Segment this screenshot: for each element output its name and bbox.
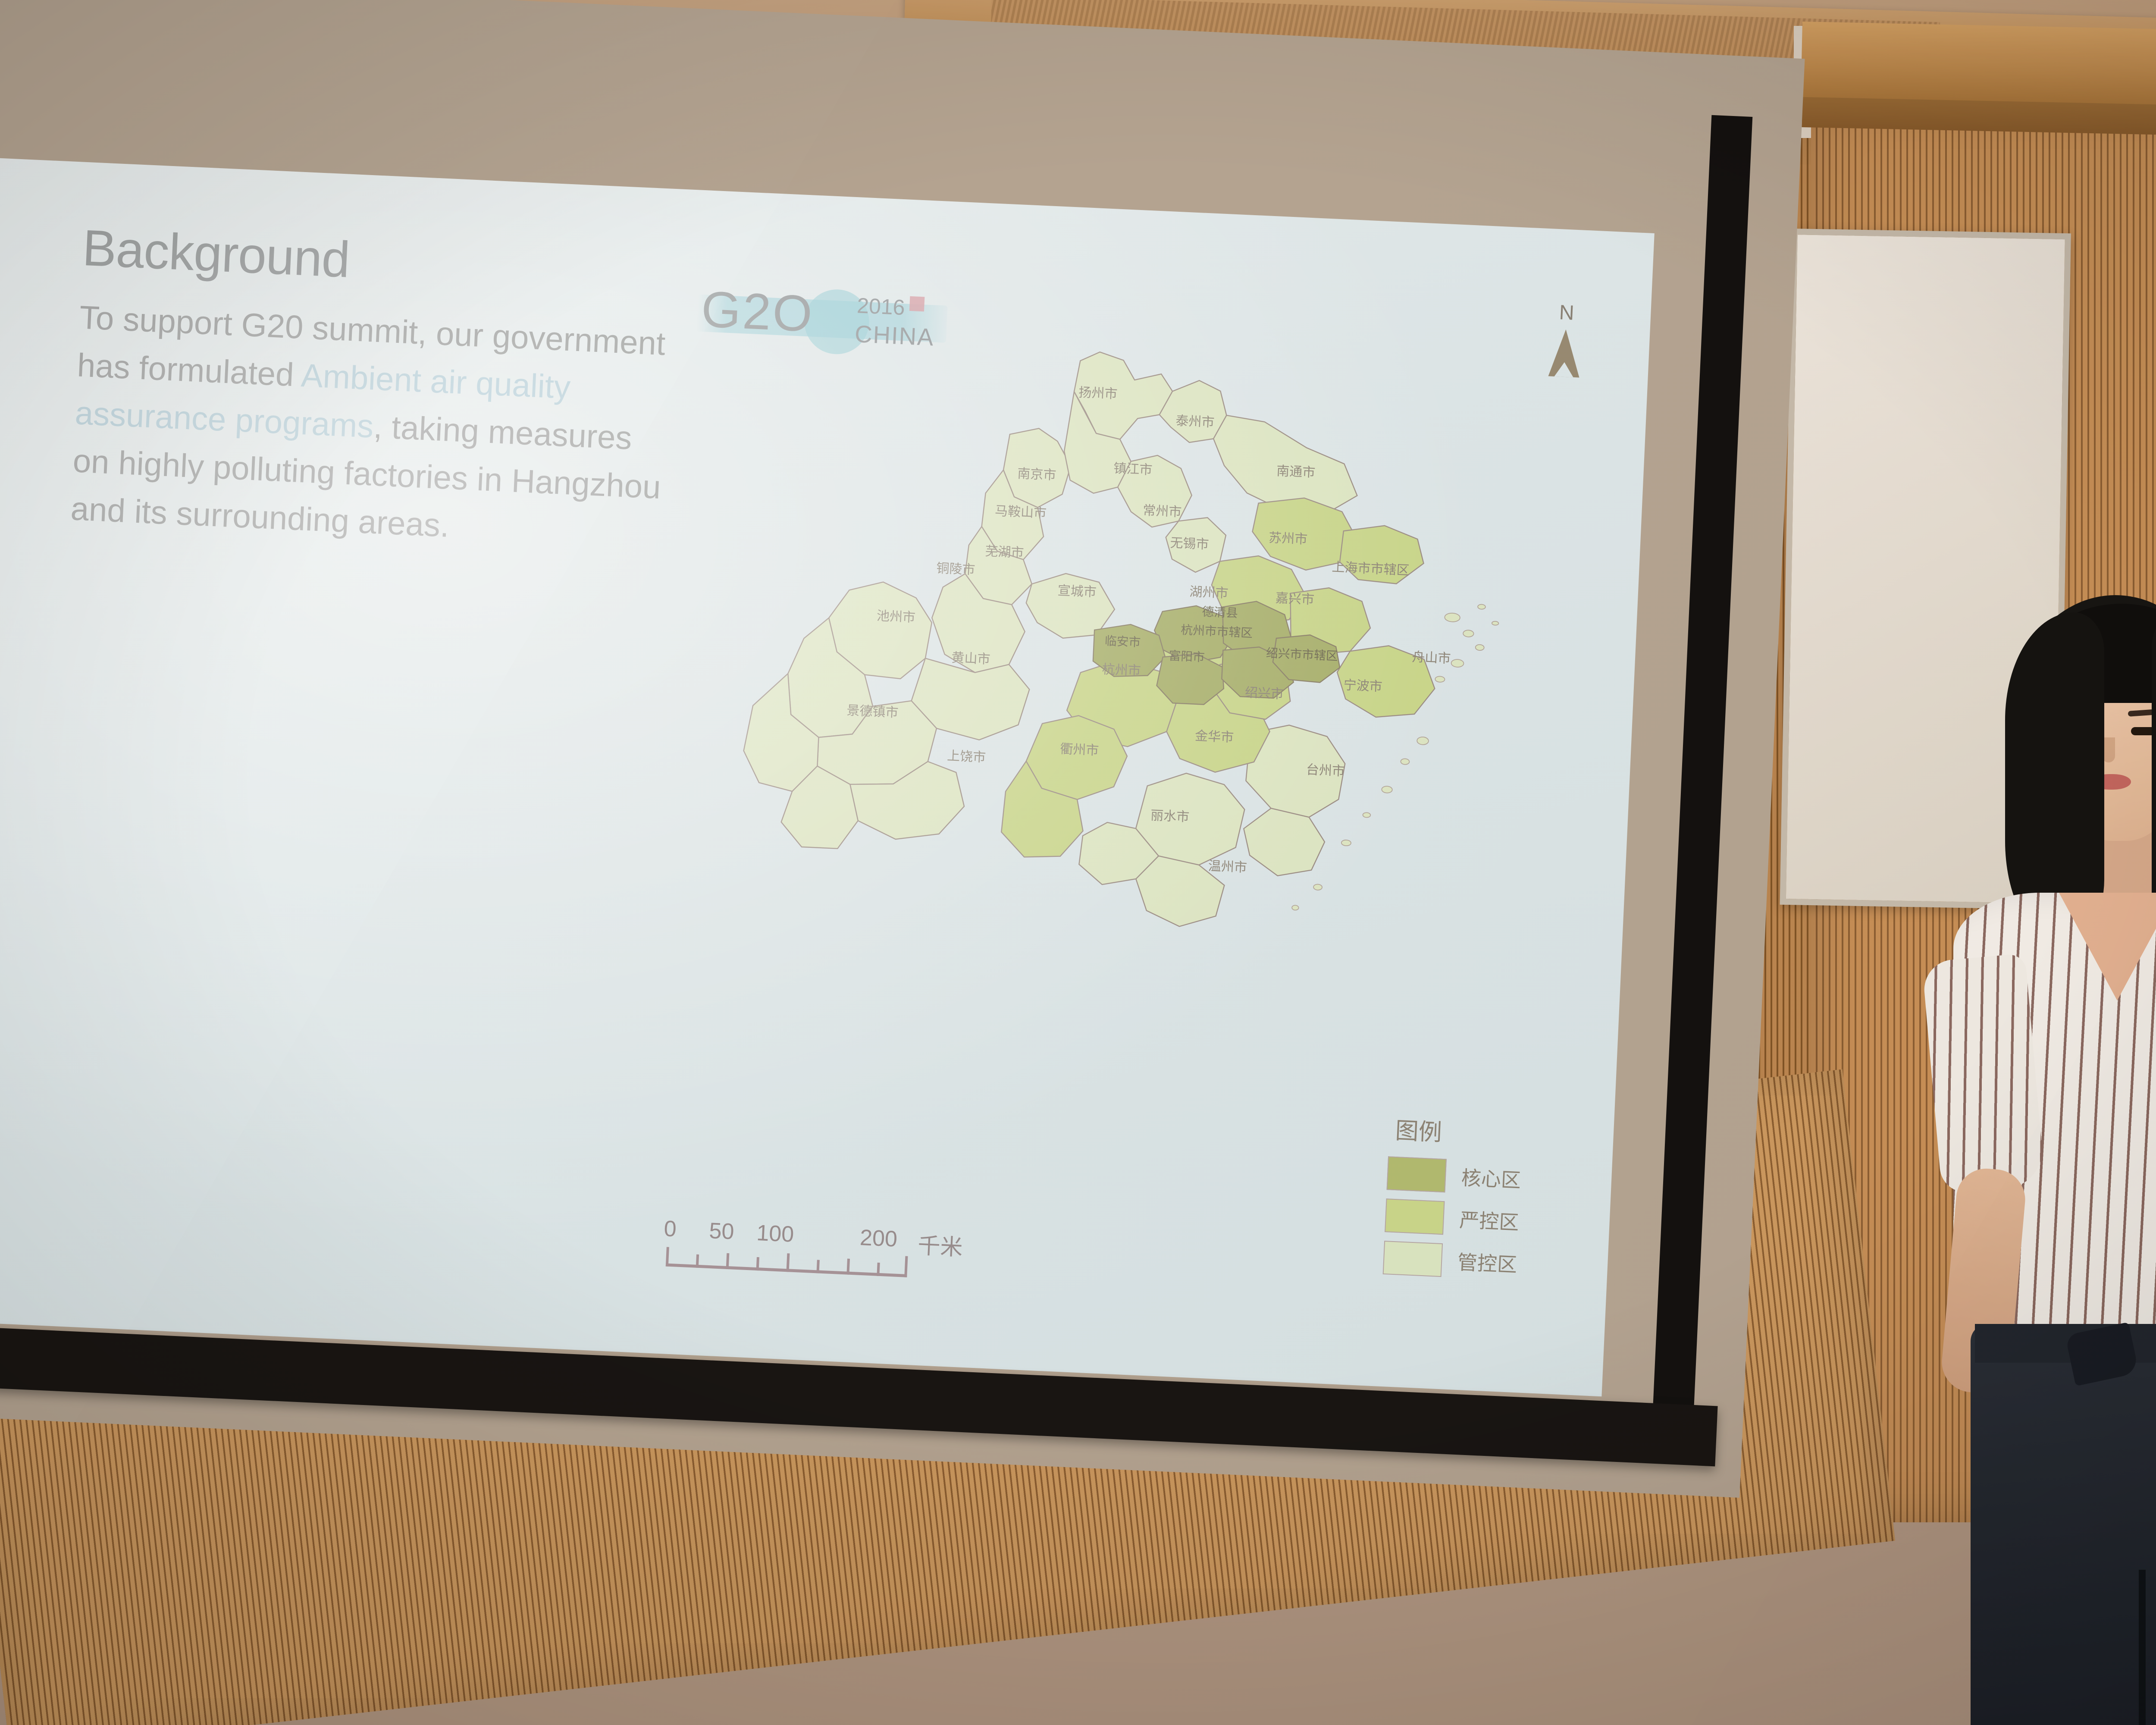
north-arrow-label: N: [1542, 302, 1591, 325]
slide-text-column: Background To support G20 summit, our go…: [70, 223, 678, 560]
map-city-label: 南通市: [1276, 464, 1316, 480]
map-city-label: 富阳市: [1169, 649, 1205, 665]
scalebar-numbers: 0 50 100 200 千米: [663, 1216, 975, 1261]
map-city-label: 马鞍山市: [994, 504, 1047, 521]
north-arrow-icon: N: [1539, 302, 1591, 390]
map-city-label: 上饶市: [946, 748, 986, 765]
map-city-label: 铜陵市: [936, 561, 975, 577]
map-legend: 图例 核心区 严控区 管控区: [1382, 1111, 1580, 1292]
map-city-label: 宁波市: [1343, 677, 1382, 694]
map-city-label: 扬州市: [1078, 385, 1118, 402]
map-city-label: 无锡市: [1170, 536, 1209, 552]
map-city-label: 苏州市: [1268, 530, 1307, 547]
map-city-label: 常州市: [1143, 503, 1182, 520]
map-scalebar: 0 50 100 200 千米: [661, 1216, 975, 1311]
map-city-label: 舟山市: [1412, 649, 1451, 666]
map-city-label: 泰州市: [1175, 414, 1215, 430]
scalebar-tick-50: 50: [708, 1218, 735, 1245]
map-city-label: 景德镇市: [846, 703, 899, 720]
slide-body-text: To support G20 summit, our government ha…: [70, 294, 675, 560]
presenter-v-neck-collar: [2059, 893, 2156, 1000]
map-city-label: 临安市: [1104, 634, 1141, 649]
map-city-label: 黄山市: [951, 650, 990, 667]
projection-screen: Background To support G20 summit, our go…: [0, 0, 1805, 1498]
map-city-label: 台州市: [1306, 762, 1345, 779]
map-city-label: 丽水市: [1150, 808, 1189, 825]
legend-swatch-core: [1387, 1156, 1447, 1192]
scalebar-tick-0: 0: [663, 1216, 677, 1242]
presenter-hair-left: [2005, 612, 2104, 940]
legend-label-core: 核心区: [1461, 1162, 1522, 1193]
scalebar-unit: 千米: [917, 1227, 963, 1262]
presenter-person: [1906, 595, 2156, 1725]
map-canvas: .zc{fill:#dfe9c6;stroke:#9d8f86;stroke-w…: [642, 276, 1543, 1176]
presenter-shorts: [1971, 1324, 2156, 1725]
conference-room-photo: Background To support G20 summit, our go…: [0, 0, 2156, 1725]
map-city-label: 德清县: [1202, 605, 1238, 621]
map-city-label: 宣城市: [1057, 583, 1097, 600]
legend-label-control: 管控区: [1457, 1247, 1518, 1278]
map-city-label: 湖州市: [1189, 584, 1228, 601]
scalebar-tick-200: 200: [859, 1225, 898, 1252]
presentation-slide: Background To support G20 summit, our go…: [0, 157, 1655, 1396]
map-city-label: 金华市: [1194, 728, 1234, 745]
map-city-label: 杭州市: [1102, 662, 1141, 679]
map-city-label: 绍兴市: [1244, 685, 1284, 702]
presenter-shorts-seam: [2139, 1570, 2146, 1725]
map-city-label: 衢州市: [1060, 741, 1099, 758]
legend-title: 图例: [1395, 1111, 1579, 1154]
scalebar-tick-100: 100: [756, 1220, 794, 1248]
slide-title: Background: [81, 223, 678, 300]
map-city-label: 嘉兴市: [1275, 590, 1314, 607]
zhejiang-region-map-svg: .zc{fill:#dfe9c6;stroke:#9d8f86;stroke-w…: [652, 276, 1543, 961]
map-city-label: 南京市: [1017, 466, 1056, 483]
map-city-label: 温州市: [1208, 859, 1247, 875]
presenter-sleeve-left: [1922, 953, 2045, 1195]
legend-swatch-strict: [1385, 1198, 1445, 1235]
map-city-label: 镇江市: [1113, 461, 1153, 478]
map-city-label: 上海市市辖区: [1332, 560, 1410, 578]
legend-item-strict: 严控区: [1385, 1198, 1576, 1241]
map-city-label: 芜湖市: [985, 544, 1024, 561]
slide-map-figure: G2O 2016 CHINA N .zc{fill:: [634, 215, 1623, 1361]
legend-label-strict: 严控区: [1459, 1204, 1520, 1236]
map-city-label: 池州市: [876, 608, 915, 625]
north-arrow-notch: [1554, 362, 1574, 377]
legend-item-core: 核心区: [1387, 1156, 1578, 1198]
legend-swatch-control: [1383, 1241, 1443, 1277]
legend-item-control: 管控区: [1383, 1241, 1574, 1283]
